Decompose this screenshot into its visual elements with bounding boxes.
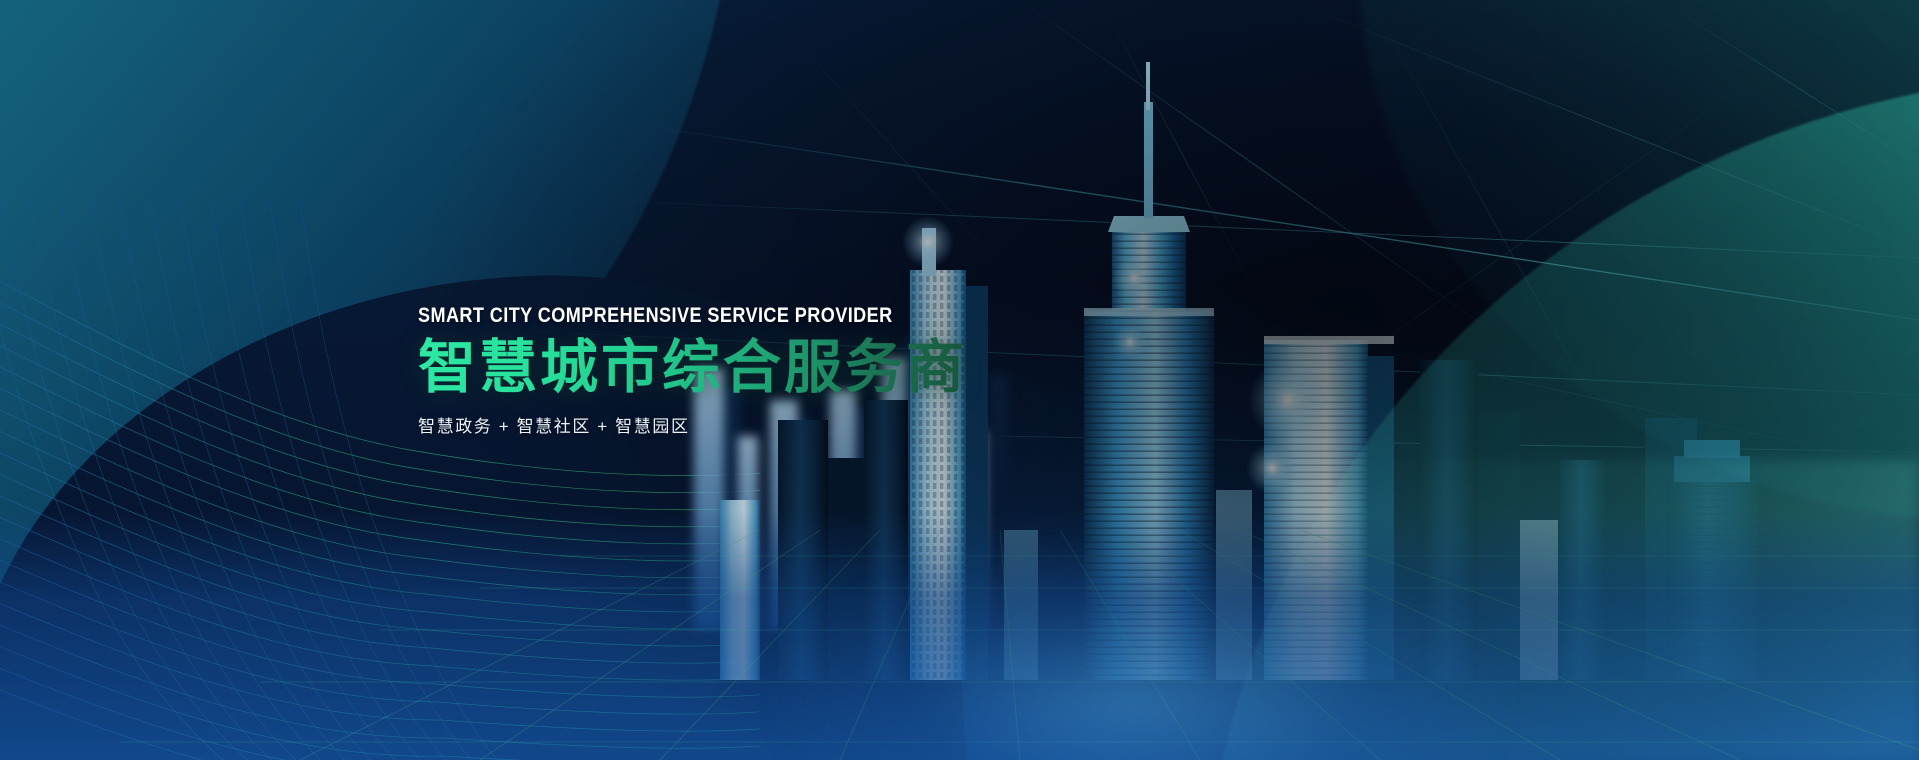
ground-glow bbox=[780, 550, 1500, 760]
hero-subline: 智慧政务 + 智慧社区 + 智慧园区 bbox=[418, 412, 970, 437]
hero-eyebrow-text: SMART CITY COMPREHENSIVE SERVICE PROVIDE… bbox=[418, 304, 893, 328]
smart-city-hero-banner: SMART CITY COMPREHENSIVE SERVICE PROVIDE… bbox=[0, 0, 1919, 760]
hero-headline: 智慧城市综合服务商 bbox=[418, 337, 970, 400]
hero-copy-block: SMART CITY COMPREHENSIVE SERVICE PROVIDE… bbox=[418, 304, 970, 437]
